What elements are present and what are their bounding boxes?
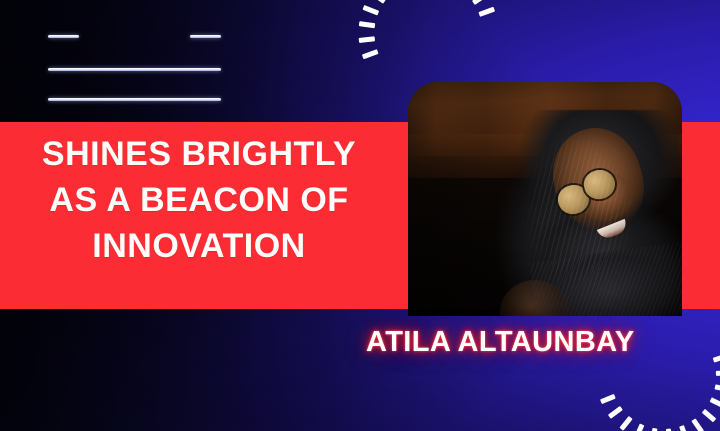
subject-name: ATILA ALTAUNBAY	[366, 326, 635, 359]
sunburst-ray	[358, 36, 374, 43]
headline-text: SHINES BRIGHTLY AS A BEACON OF INNOVATIO…	[0, 131, 398, 269]
sunburst-ray	[358, 21, 375, 28]
decorative-line-short-left	[48, 35, 79, 38]
sunburst-bottom-icon	[590, 303, 720, 431]
sunburst-ray	[369, 0, 385, 4]
sunburst-ray	[471, 0, 487, 5]
sunburst-ray	[478, 7, 495, 17]
sunburst-ray	[679, 424, 689, 431]
sunburst-ray	[619, 415, 632, 430]
sunburst-ray	[599, 393, 615, 403]
sunburst-ray	[712, 353, 720, 362]
sunburst-ray	[607, 405, 622, 418]
decorative-line-long-top	[48, 68, 221, 71]
sunburst-ray	[633, 423, 644, 431]
decorative-lines-group	[48, 30, 221, 106]
headline-line-1: SHINES BRIGHTLY	[0, 131, 398, 177]
headline-line-2: AS A BEACON OF	[0, 177, 398, 223]
sunburst-ray	[714, 384, 720, 392]
headline-line-3: INNOVATION	[0, 223, 398, 269]
decorative-line-short-right	[190, 35, 221, 38]
sunburst-ray	[361, 49, 378, 59]
photo-vignette	[408, 82, 682, 316]
sunburst-ray	[650, 427, 657, 431]
sunburst-ray	[701, 408, 716, 422]
sunburst-ray	[691, 418, 704, 431]
sunburst-ray	[709, 397, 720, 408]
subject-portrait-photo	[408, 82, 682, 316]
sunburst-ray	[715, 370, 720, 376]
poster-canvas: SHINES BRIGHTLY AS A BEACON OF INNOVATIO…	[0, 0, 720, 431]
sunburst-ray	[362, 5, 379, 16]
decorative-line-long-bottom	[48, 98, 221, 101]
